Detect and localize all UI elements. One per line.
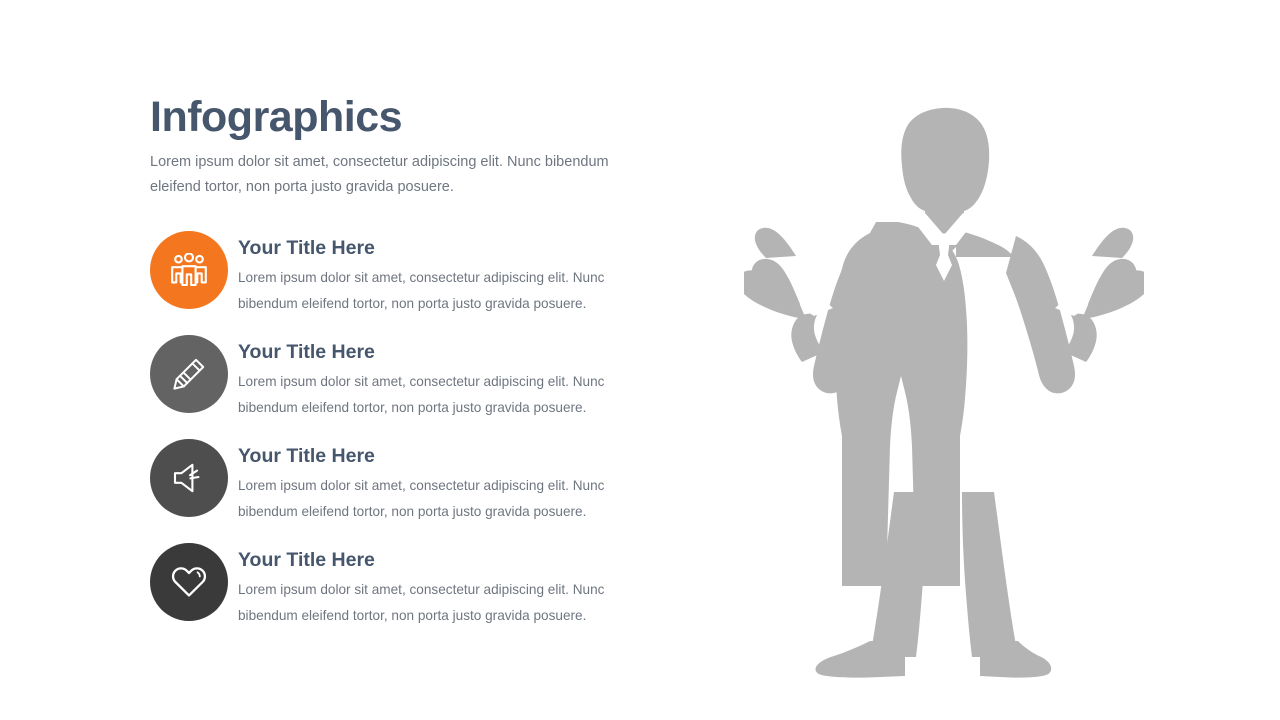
list-item[interactable]: Your Title Here Lorem ipsum dolor sit am… [150,543,670,647]
item-badge-2[interactable] [150,335,228,413]
item-text-block: Your Title Here Lorem ipsum dolor sit am… [238,445,650,524]
item-text-block: Your Title Here Lorem ipsum dolor sit am… [238,237,650,316]
header-block: Infographics Lorem ipsum dolor sit amet,… [150,95,670,200]
pencil-icon [171,356,207,392]
item-description: Lorem ipsum dolor sit amet, consectetur … [238,265,650,315]
item-description: Lorem ipsum dolor sit amet, consectetur … [238,473,650,523]
item-text-block: Your Title Here Lorem ipsum dolor sit am… [238,341,650,420]
item-title: Your Title Here [238,341,650,363]
list-item[interactable]: Your Title Here Lorem ipsum dolor sit am… [150,231,670,335]
item-description: Lorem ipsum dolor sit amet, consectetur … [238,369,650,419]
infographic-items-list: Your Title Here Lorem ipsum dolor sit am… [150,231,670,647]
item-badge-4[interactable] [150,543,228,621]
item-badge-3[interactable] [150,439,228,517]
item-text-block: Your Title Here Lorem ipsum dolor sit am… [238,549,650,628]
item-description: Lorem ipsum dolor sit amet, consectetur … [238,577,650,627]
list-item[interactable]: Your Title Here Lorem ipsum dolor sit am… [150,439,670,543]
item-title: Your Title Here [238,237,650,259]
heart-icon [170,565,208,599]
item-title: Your Title Here [238,549,650,571]
speaker-volume-icon [171,462,207,494]
item-title: Your Title Here [238,445,650,467]
businessman-shrug-silhouette [744,72,1144,682]
page-title: Infographics [150,95,670,140]
page-subtitle: Lorem ipsum dolor sit amet, consectetur … [150,150,636,200]
group-people-icon [169,253,209,287]
slide-canvas: Infographics Lorem ipsum dolor sit amet,… [0,0,1280,720]
item-badge-1[interactable] [150,231,228,309]
list-item[interactable]: Your Title Here Lorem ipsum dolor sit am… [150,335,670,439]
